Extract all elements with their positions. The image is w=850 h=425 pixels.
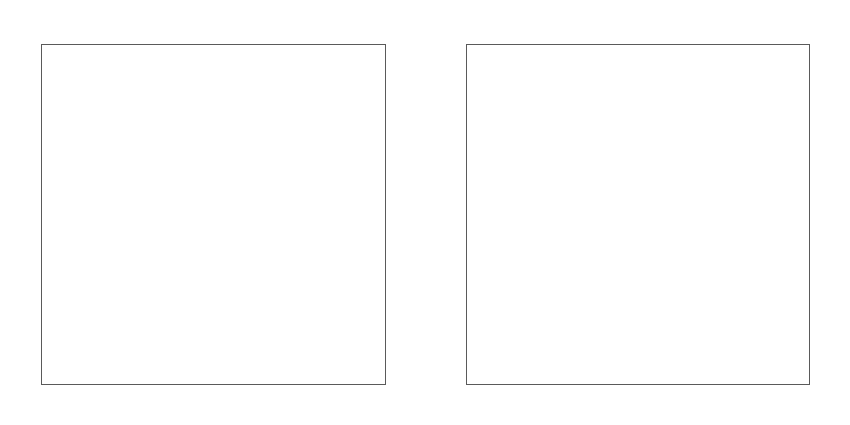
southern-hemisphere-plot [466,44,810,385]
panel-northern-hemisphere [0,0,425,390]
legend [0,393,850,425]
panel-southern-hemisphere [425,0,850,390]
northern-hemisphere-plot [41,44,386,385]
northern-polar-map [42,45,385,384]
southern-polar-map [467,45,809,384]
satellite-ground-track-figure [0,0,850,425]
